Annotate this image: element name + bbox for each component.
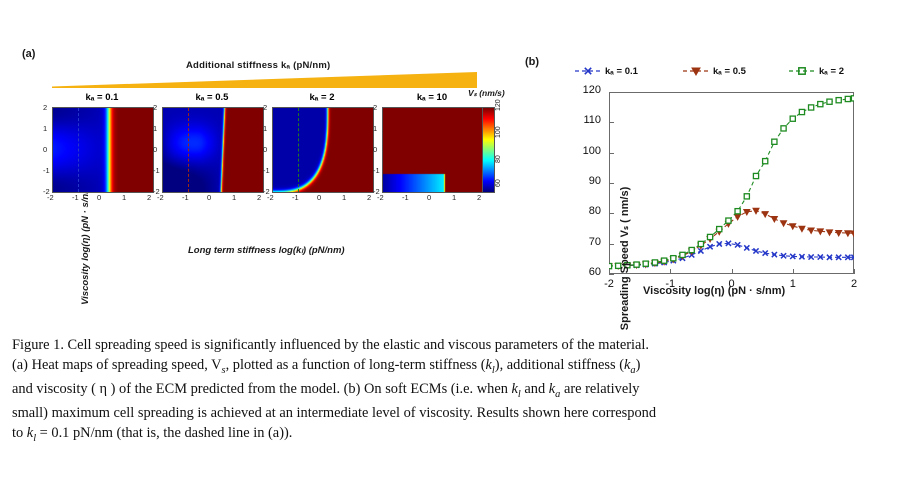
chart-data-point bbox=[836, 98, 841, 103]
heatmap-title: kₐ = 10 bbox=[382, 92, 482, 103]
heatmap-x-tick: -1 bbox=[182, 193, 189, 202]
colorbar-tick: 100 bbox=[495, 126, 502, 138]
chart-x-tick-mark bbox=[793, 269, 794, 274]
chart-y-tick-mark bbox=[609, 274, 614, 275]
caption-line: and viscosity ( η ) of the ECM predicted… bbox=[12, 380, 890, 404]
heatmap-x-tick: -1 bbox=[72, 193, 79, 202]
figure-caption: Figure 1. Cell spreading speed is signif… bbox=[12, 336, 890, 448]
heatmap-y-tick: 0 bbox=[263, 145, 267, 154]
panel-a: (a) Additional stiffness kₐ (pN/nm) Visc… bbox=[0, 40, 515, 240]
chart-data-point bbox=[845, 96, 850, 101]
legend-marker-icon bbox=[575, 65, 601, 77]
additional-stiffness-wedge bbox=[52, 72, 477, 88]
chart-y-tick-mark bbox=[609, 153, 614, 154]
chart-x-tick-label: 1 bbox=[783, 278, 803, 290]
heatmap-y-tick: 0 bbox=[153, 145, 157, 154]
heatmap-y-tick: -2 bbox=[373, 187, 380, 196]
chart-data-point bbox=[671, 256, 676, 261]
heatmap-x-tick: 2 bbox=[477, 193, 481, 202]
heatmap bbox=[52, 107, 154, 193]
heatmap-x-tick: 1 bbox=[232, 193, 236, 202]
legend-marker-icon bbox=[789, 65, 815, 77]
legend-item[interactable]: kₐ = 2 bbox=[789, 62, 844, 80]
heatmap-y-tick: 2 bbox=[43, 103, 47, 112]
panel-b: (b) kₐ = 0.1kₐ = 0.5kₐ = 2 6070809010011… bbox=[515, 40, 900, 320]
heatmap-y-tick: 2 bbox=[263, 103, 267, 112]
heatmap-title: kₐ = 2 bbox=[272, 92, 372, 103]
heatmap-x-tick: 1 bbox=[342, 193, 346, 202]
chart-data-point bbox=[662, 258, 667, 263]
chart-x-tick-label: 2 bbox=[844, 278, 864, 290]
heatmap-y-tick: 0 bbox=[43, 145, 47, 154]
chart-legend: kₐ = 0.1kₐ = 0.5kₐ = 2 bbox=[575, 62, 885, 80]
chart-data-point bbox=[734, 214, 740, 220]
chart-data-point bbox=[652, 260, 657, 265]
caption-line: small) maximum cell spreading is achieve… bbox=[12, 404, 890, 424]
chart-data-point bbox=[634, 262, 639, 267]
chart-y-tick-mark bbox=[609, 244, 614, 245]
chart-data-point bbox=[762, 212, 768, 218]
colorbar-tick: 80 bbox=[495, 155, 502, 163]
heatmap-y-tick: 1 bbox=[373, 124, 377, 133]
caption-line: to kl = 0.1 pN/nm (that is, the dashed l… bbox=[12, 424, 890, 448]
chart-series-line bbox=[609, 98, 854, 266]
dashed-reference-line bbox=[298, 108, 299, 192]
chart-y-tick-mark bbox=[609, 183, 614, 184]
chart-y-tick-label: 80 bbox=[571, 205, 601, 217]
chart-series-layer bbox=[609, 92, 854, 274]
caption-line: Figure 1. Cell spreading speed is signif… bbox=[12, 336, 890, 356]
heatmap bbox=[162, 107, 264, 193]
additional-stiffness-title: Additional stiffness kₐ (pN/nm) bbox=[186, 60, 330, 71]
chart-data-point bbox=[851, 96, 854, 101]
chart-data-point bbox=[781, 126, 786, 131]
legend-label: kₐ = 0.1 bbox=[605, 66, 638, 77]
heatmap-x-tick: 0 bbox=[207, 193, 211, 202]
heatmap-y-tick: 0 bbox=[373, 145, 377, 154]
chart-y-tick-label: 110 bbox=[571, 114, 601, 126]
chart-y-tick-label: 60 bbox=[571, 266, 601, 278]
chart-series bbox=[609, 96, 854, 269]
colorbar bbox=[482, 107, 495, 193]
heatmap-x-tick: 2 bbox=[367, 193, 371, 202]
chart-y-tick-mark bbox=[609, 213, 614, 214]
chart-x-tick-label: -2 bbox=[599, 278, 619, 290]
chart-y-tick-label: 100 bbox=[571, 145, 601, 157]
heatmap bbox=[272, 107, 374, 193]
chart-data-point bbox=[835, 230, 841, 236]
chart-data-point bbox=[827, 99, 832, 104]
heatmap bbox=[382, 107, 484, 193]
heatmap-y-tick: -1 bbox=[263, 166, 270, 175]
chart-y-tick-label: 120 bbox=[571, 84, 601, 96]
chart-data-point bbox=[726, 218, 731, 223]
legend-item[interactable]: kₐ = 0.1 bbox=[575, 62, 638, 80]
chart-x-tick-mark bbox=[670, 269, 671, 274]
panel-b-tag: (b) bbox=[525, 56, 539, 68]
chart-data-point bbox=[744, 245, 749, 250]
heatmap-y-tick: -2 bbox=[43, 187, 50, 196]
heatmap-x-tick: -1 bbox=[292, 193, 299, 202]
heatmap-y-tick: -1 bbox=[43, 166, 50, 175]
heatmap-y-tick: 1 bbox=[43, 124, 47, 133]
chart-data-point bbox=[818, 102, 823, 107]
heatmap-title: kₐ = 0.1 bbox=[52, 92, 152, 103]
chart-data-point bbox=[689, 247, 694, 252]
colorbar-tick: 120 bbox=[495, 99, 502, 111]
chart-data-point bbox=[609, 264, 612, 269]
chart-data-point bbox=[763, 159, 768, 164]
chart-data-point bbox=[780, 221, 786, 227]
dashed-reference-line bbox=[188, 108, 189, 192]
heatmap-y-tick: 1 bbox=[263, 124, 267, 133]
chart-data-point bbox=[799, 109, 804, 114]
heatmap-x-tick: -1 bbox=[402, 193, 409, 202]
chart-y-tick-label: 70 bbox=[571, 236, 601, 248]
figure-area: (a) Additional stiffness kₐ (pN/nm) Visc… bbox=[0, 0, 900, 330]
heatmap-x-tick: 2 bbox=[147, 193, 151, 202]
chart-data-point bbox=[735, 209, 740, 214]
heatmap-y-tick: -2 bbox=[263, 187, 270, 196]
chart-data-point bbox=[744, 209, 750, 215]
chart-data-point bbox=[707, 234, 712, 239]
colorbar-title: Vₛ (nm/s) bbox=[468, 88, 505, 99]
chart-x-tick-mark bbox=[854, 269, 855, 274]
chart-y-tick-label: 90 bbox=[571, 175, 601, 187]
heatmap-x-tick: 0 bbox=[97, 193, 101, 202]
heatmap-y-tick: 2 bbox=[153, 103, 157, 112]
chart-y-tick-mark bbox=[609, 92, 614, 93]
dashed-reference-line bbox=[78, 108, 79, 192]
legend-label: kₐ = 2 bbox=[819, 66, 844, 77]
chart-data-point bbox=[680, 252, 685, 257]
chart-data-point bbox=[790, 116, 795, 121]
chart-data-point bbox=[753, 173, 758, 178]
chart-data-point bbox=[772, 139, 777, 144]
heatmap-x-tick: 0 bbox=[317, 193, 321, 202]
heatmap-title: kₐ = 0.5 bbox=[162, 92, 262, 103]
chart-data-point bbox=[753, 248, 758, 253]
chart-data-point bbox=[809, 105, 814, 110]
heatmap-x-tick: 1 bbox=[122, 193, 126, 202]
heatmap-y-tick: -1 bbox=[153, 166, 160, 175]
heatmap-y-tick: -2 bbox=[153, 187, 160, 196]
panel-a-xlabel: Long term stiffness log(kₗ) (pN/nm) bbox=[188, 245, 345, 256]
colorbar-tick: 60 bbox=[495, 179, 502, 187]
chart-y-tick-mark bbox=[609, 122, 614, 123]
chart-data-point bbox=[735, 242, 740, 247]
legend-label: kₐ = 0.5 bbox=[713, 66, 746, 77]
chart-data-point bbox=[717, 227, 722, 232]
legend-marker-icon bbox=[683, 65, 709, 77]
panel-a-ylabel: Viscosity log(η) (pN · s/nm) bbox=[80, 182, 91, 305]
heatmap-y-tick: -1 bbox=[373, 166, 380, 175]
chart-data-point bbox=[808, 228, 814, 234]
chart-ylabel: Spreading Speed Vₛ ( nm/s) bbox=[618, 187, 631, 330]
chart-data-point bbox=[744, 194, 749, 199]
legend-item[interactable]: kₐ = 0.5 bbox=[683, 62, 746, 80]
heatmap-x-tick: 0 bbox=[427, 193, 431, 202]
caption-line: (a) Heat maps of spreading speed, Vs, pl… bbox=[12, 356, 890, 380]
chart-data-point bbox=[698, 241, 703, 246]
chart-xlabel: Viscosity log(η) (pN · s/nm) bbox=[643, 285, 785, 297]
heatmap-x-tick: 1 bbox=[452, 193, 456, 202]
panel-a-tag: (a) bbox=[22, 48, 35, 60]
heatmap-y-tick: 2 bbox=[373, 103, 377, 112]
chart-data-point bbox=[851, 231, 854, 237]
chart-data-point bbox=[643, 261, 648, 266]
heatmap-y-tick: 1 bbox=[153, 124, 157, 133]
chart-x-tick-mark bbox=[732, 269, 733, 274]
chart-x-tick-mark bbox=[609, 269, 610, 274]
heatmap-x-tick: 2 bbox=[257, 193, 261, 202]
